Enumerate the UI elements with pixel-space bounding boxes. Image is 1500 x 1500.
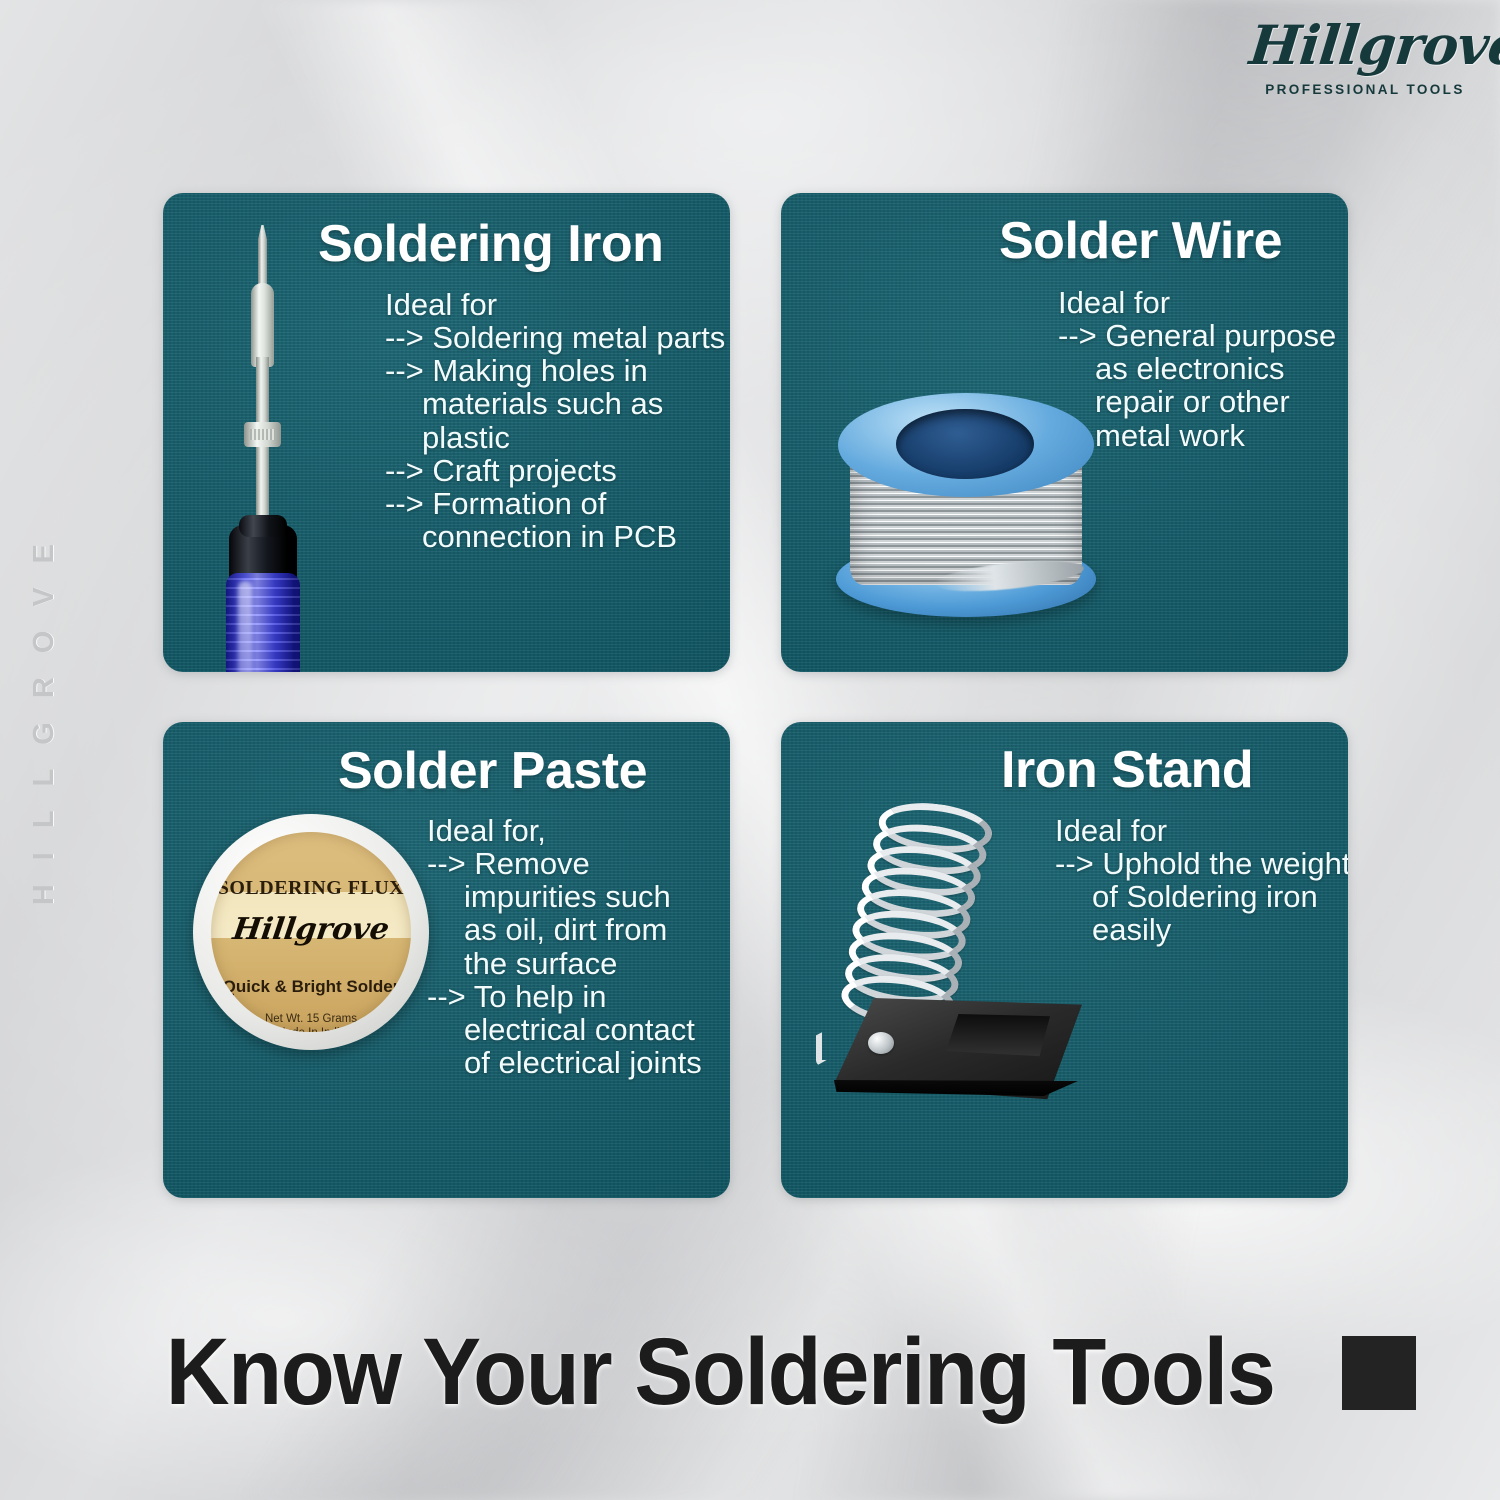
card-iron-stand[interactable]: Iron Stand Ideal for --> Uphold the weig… xyxy=(781,722,1348,1198)
iron-ferrule xyxy=(251,283,274,367)
card-body-iron-stand: Ideal for --> Uphold the weight of Solde… xyxy=(1055,814,1348,947)
stand-base-edge xyxy=(834,1080,1078,1096)
bottom-headline: Know Your Soldering Tools xyxy=(0,1318,1500,1427)
card-title-solder-paste: Solder Paste xyxy=(338,745,647,797)
bullet-line: --> Craft projects xyxy=(385,454,725,487)
tin-label-slogan: Quick & Bright Solder xyxy=(211,977,411,997)
spool-center-hole xyxy=(896,409,1034,479)
card-body-soldering-iron: Ideal for --> Soldering metal parts --> … xyxy=(385,288,725,553)
bullet-line: as electronics xyxy=(1058,352,1336,385)
soldering-iron-image xyxy=(203,225,323,665)
intro-line: Ideal for xyxy=(1055,814,1348,847)
bullet-line: --> Soldering metal parts xyxy=(385,321,725,354)
headline-block-square xyxy=(1342,1336,1416,1410)
card-title-solder-wire: Solder Wire xyxy=(999,215,1282,267)
intro-line: Ideal for xyxy=(1058,286,1336,319)
bullet-line: plastic xyxy=(385,421,725,454)
tin-origin: Made In India xyxy=(276,1027,346,1032)
card-body-solder-wire: Ideal for --> General purpose as electro… xyxy=(1058,286,1336,452)
solder-wire-image xyxy=(836,393,1096,643)
brand-tagline: PROFESSIONAL TOOLS xyxy=(1250,82,1480,97)
bullet-line: the surface xyxy=(427,947,702,980)
tin-label-brand: Hillgrove xyxy=(211,912,411,947)
solder-paste-tin-image: SOLDERING FLUX Hillgrove Quick & Bright … xyxy=(193,814,429,1050)
intro-line: Ideal for, xyxy=(427,814,702,847)
tin-label: SOLDERING FLUX Hillgrove Quick & Bright … xyxy=(211,832,411,1032)
bullet-line: --> Formation of xyxy=(385,487,725,520)
card-solder-paste[interactable]: SOLDERING FLUX Hillgrove Quick & Bright … xyxy=(163,722,730,1198)
product-card-grid: Soldering Iron Ideal for --> Soldering m… xyxy=(163,193,1348,1198)
side-watermark: HILLGROVE xyxy=(28,520,61,905)
bullet-line: connection in PCB xyxy=(385,520,725,553)
bullet-line: electrical contact xyxy=(427,1013,702,1046)
card-soldering-iron[interactable]: Soldering Iron Ideal for --> Soldering m… xyxy=(163,193,730,672)
iron-stand-image xyxy=(806,802,1096,1102)
bullet-line: of Soldering iron xyxy=(1055,880,1348,913)
iron-tip xyxy=(258,225,267,291)
card-title-iron-stand: Iron Stand xyxy=(1001,744,1253,796)
stand-mount-screw xyxy=(868,1032,894,1054)
bullet-line: --> General purpose xyxy=(1058,319,1336,352)
iron-handle xyxy=(226,573,300,672)
stand-sponge-tray xyxy=(946,1014,1050,1058)
bullet-line: as oil, dirt from xyxy=(427,913,702,946)
bullet-line: metal work xyxy=(1058,419,1336,452)
bullet-line: --> Remove xyxy=(427,847,702,880)
iron-nut xyxy=(244,422,281,447)
card-body-solder-paste: Ideal for, --> Remove impurities such as… xyxy=(427,814,702,1079)
brand-logo: Hillgrove PROFESSIONAL TOOLS xyxy=(1250,18,1480,97)
brand-name: Hillgrove xyxy=(1247,18,1483,72)
tin-net-weight: Net Wt. 15 Grams xyxy=(265,1013,357,1025)
stand-coil-spring xyxy=(841,796,987,1029)
card-title-soldering-iron: Soldering Iron xyxy=(318,218,663,270)
headline-text: Know Your Soldering Tools xyxy=(166,1318,1275,1427)
tin-label-weight: Net Wt. 15 Grams Made In India xyxy=(211,1012,411,1032)
bullet-line: easily xyxy=(1055,913,1348,946)
card-solder-wire[interactable]: Solder Wire Ideal for --> General purpos… xyxy=(781,193,1348,672)
bullet-line: --> Making holes in xyxy=(385,354,725,387)
bullet-line: impurities such xyxy=(427,880,702,913)
bullet-line: materials such as xyxy=(385,387,725,420)
bullet-line: --> Uphold the weight xyxy=(1055,847,1348,880)
tin-label-product: SOLDERING FLUX xyxy=(211,877,411,900)
intro-line: Ideal for xyxy=(385,288,725,321)
bullet-line: of electrical joints xyxy=(427,1046,702,1079)
bullet-line: --> To help in xyxy=(427,980,702,1013)
bullet-line: repair or other xyxy=(1058,385,1336,418)
